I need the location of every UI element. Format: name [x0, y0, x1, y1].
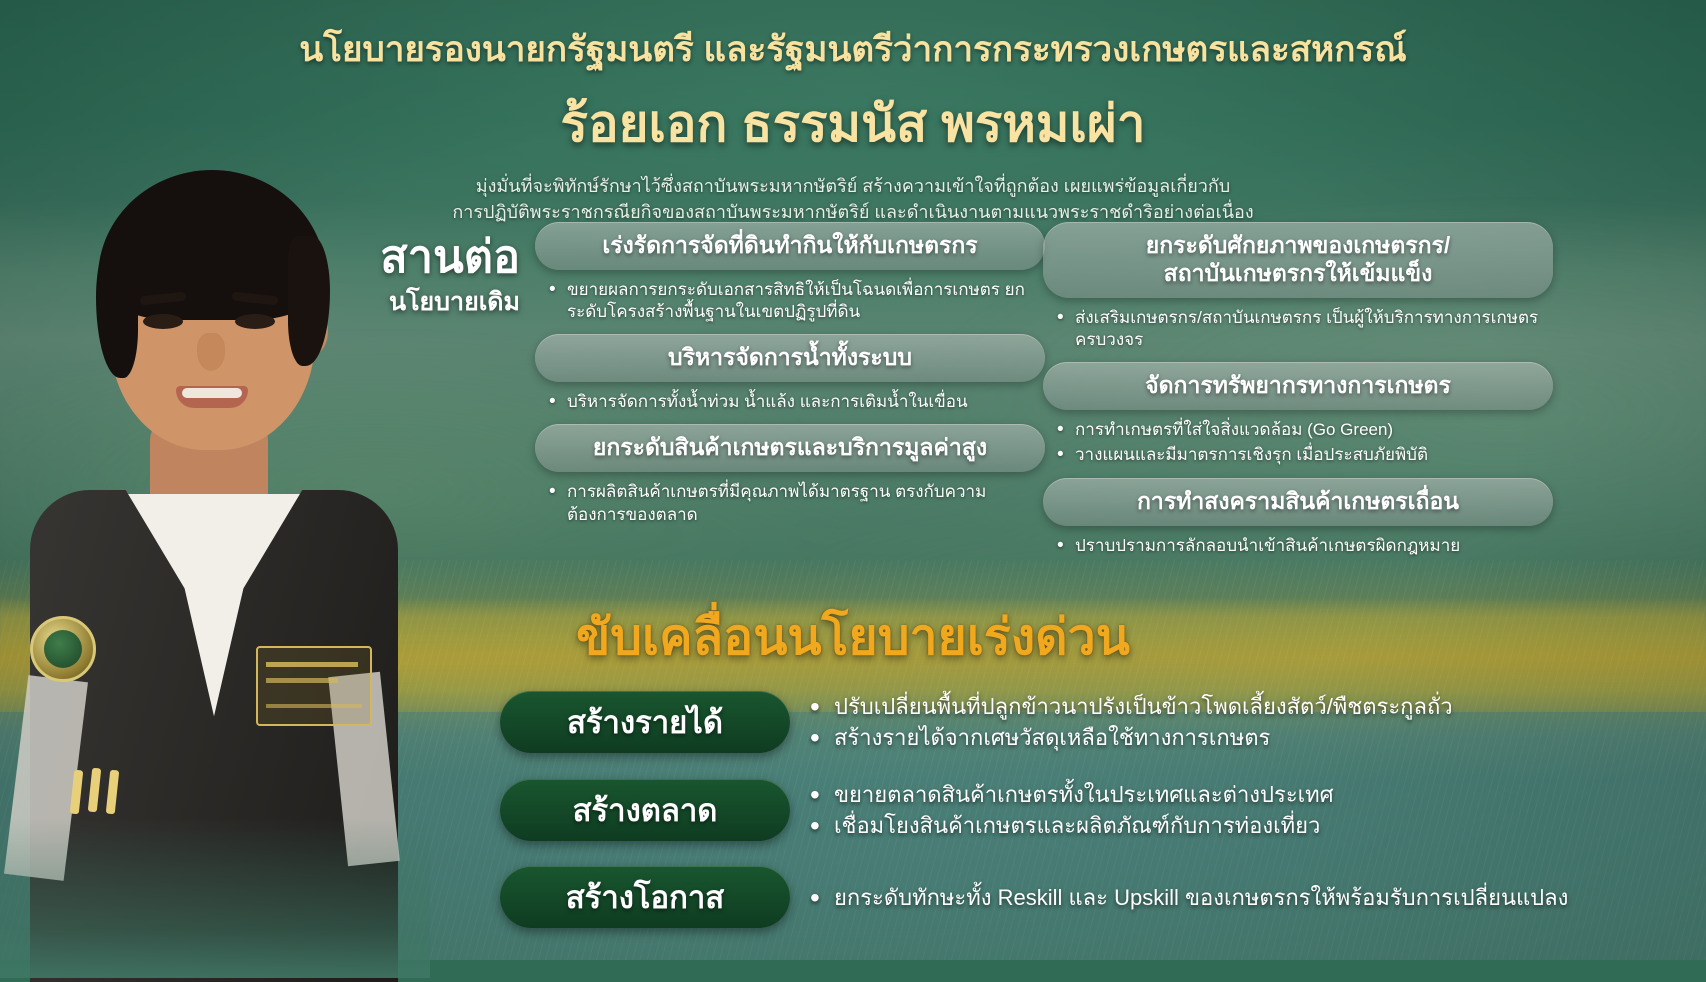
policy-bullet: ปราบปรามการลักลอบนำเข้าสินค้าเกษตรผิดกฎห… — [1057, 535, 1547, 557]
policy-card-title: จัดการทรัพยากรทางการเกษตร — [1043, 362, 1553, 410]
policy-card-title: ยกระดับสินค้าเกษตรและบริการมูลค่าสูง — [535, 424, 1045, 472]
policy-card-title: การทำสงครามสินค้าเกษตรเถื่อน — [1043, 478, 1553, 526]
vest-badge-text-line-2 — [266, 678, 338, 683]
policy-bullet: บริหารจัดการทั้งน้ำท่วม น้ำแล้ง และการเต… — [549, 391, 1039, 413]
policy-card-title: ยกระดับศักยภาพของเกษตรกร/ สถาบันเกษตรกรใ… — [1043, 222, 1553, 298]
policy-card-title-line-2: สถาบันเกษตรกรให้เข้มแข็ง — [1164, 260, 1433, 286]
portrait-nose — [197, 333, 225, 371]
portrait-hair-left — [96, 238, 138, 378]
policy-card-bullet-list: การผลิตสินค้าเกษตรที่มีคุณภาพได้มาตรฐาน … — [535, 472, 1045, 534]
policy-card-bullet-list: ปราบปรามการลักลอบนำเข้าสินค้าเกษตรผิดกฎห… — [1043, 526, 1553, 566]
continuing-policies-left-column: เร่งรัดการจัดที่ดินทำกินให้กับเกษตรกร ขย… — [535, 222, 1045, 537]
policy-card-bullet-list: การทำเกษตรที่ใส่ใจสิ่งแวดล้อม (Go Green)… — [1043, 410, 1553, 475]
policy-card-resource-management[interactable]: จัดการทรัพยากรทางการเกษตร การทำเกษตรที่ใ… — [1043, 362, 1553, 475]
continuing-policies-right-column: ยกระดับศักยภาพของเกษตรกร/ สถาบันเกษตรกรใ… — [1043, 222, 1553, 568]
portrait-eye-right — [235, 314, 275, 329]
urgent-badge-label: สร้างรายได้ — [500, 691, 790, 753]
urgent-point: เชื่อมโยงสินค้าเกษตรและผลิตภัณฑ์กับการท่… — [810, 811, 1334, 840]
policy-card-bullet-list: ส่งเสริมเกษตรกร/สถาบันเกษตรกร เป็นผู้ให้… — [1043, 298, 1553, 360]
policy-card-land-allocation[interactable]: เร่งรัดการจัดที่ดินทำกินให้กับเกษตรกร ขย… — [535, 222, 1045, 332]
continuing-label-secondary: นโยบายเดิม — [320, 282, 520, 322]
policy-bullet: ส่งเสริมเกษตรกร/สถาบันเกษตรกร เป็นผู้ให้… — [1057, 307, 1547, 351]
urgent-point: ขยายตลาดสินค้าเกษตรทั้งในประเทศและต่างปร… — [810, 780, 1334, 809]
policy-card-bullet-list: ขยายผลการยกระดับเอกสารสิทธิให้เป็นโฉนดเพ… — [535, 270, 1045, 332]
continuing-label-primary: สานต่อ — [320, 234, 520, 280]
urgent-row-create-income[interactable]: สร้างรายได้ ปรับเปลี่ยนพื้นที่ปลูกข้าวนา… — [500, 690, 1620, 754]
policy-bullet: ขยายผลการยกระดับเอกสารสิทธิให้เป็นโฉนดเพ… — [549, 279, 1039, 323]
policy-bullet: การผลิตสินค้าเกษตรที่มีคุณภาพได้มาตรฐาน … — [549, 481, 1039, 525]
portrait-teeth — [182, 388, 242, 398]
policy-card-water-management[interactable]: บริหารจัดการน้ำทั้งระบบ บริหารจัดการทั้ง… — [535, 334, 1045, 422]
urgent-row-create-opportunity[interactable]: สร้างโอกาส ยกระดับทักษะทั้ง Reskill และ … — [500, 866, 1620, 928]
urgent-policies-list: สร้างรายได้ ปรับเปลี่ยนพื้นที่ปลูกข้าวนา… — [500, 690, 1620, 952]
continuing-policies-label: สานต่อ นโยบายเดิม — [320, 234, 520, 322]
policy-card-farmer-capacity[interactable]: ยกระดับศักยภาพของเกษตรกร/ สถาบันเกษตรกรใ… — [1043, 222, 1553, 360]
portrait-bottom-fade — [0, 818, 430, 978]
portrait-eye-left — [143, 314, 183, 329]
continuing-policies-section: สานต่อ นโยบายเดิม เร่งรัดการจัดที่ดินทำก… — [320, 222, 1690, 522]
urgent-policies-title: ขับเคลื่อนนโยบายเร่งด่วน — [0, 598, 1706, 677]
urgent-point-list: ขยายตลาดสินค้าเกษตรทั้งในประเทศและต่างปร… — [790, 778, 1334, 842]
urgent-point-list: ยกระดับทักษะทั้ง Reskill และ Upskill ของ… — [790, 881, 1568, 914]
policy-bullet: การทำเกษตรที่ใส่ใจสิ่งแวดล้อม (Go Green) — [1057, 419, 1547, 441]
policy-card-title-line-1: ยกระดับศักยภาพของเกษตรกร/ — [1146, 232, 1451, 258]
urgent-point: ปรับเปลี่ยนพื้นที่ปลูกข้าวนาปรังเป็นข้าว… — [810, 692, 1453, 721]
urgent-point: ยกระดับทักษะทั้ง Reskill และ Upskill ของ… — [810, 883, 1568, 912]
policy-card-high-value-products[interactable]: ยกระดับสินค้าเกษตรและบริการมูลค่าสูง การ… — [535, 424, 1045, 534]
page-title-line-1: นโยบายรองนายกรัฐมนตรี และรัฐมนตรีว่าการก… — [0, 22, 1706, 77]
policy-card-bullet-list: บริหารจัดการทั้งน้ำท่วม น้ำแล้ง และการเต… — [535, 382, 1045, 422]
policy-card-title: เร่งรัดการจัดที่ดินทำกินให้กับเกษตรกร — [535, 222, 1045, 270]
vest-badge-text-line-3 — [266, 704, 362, 708]
policy-bullet: วางแผนและมีมาตรการเชิงรุก เมื่อประสบภัยพ… — [1057, 444, 1547, 466]
policy-card-illegal-goods-war[interactable]: การทำสงครามสินค้าเกษตรเถื่อน ปราบปรามการ… — [1043, 478, 1553, 566]
urgent-point: สร้างรายได้จากเศษวัสดุเหลือใช้ทางการเกษต… — [810, 723, 1453, 752]
urgent-badge-label: สร้างตลาด — [500, 779, 790, 841]
urgent-point-list: ปรับเปลี่ยนพื้นที่ปลูกข้าวนาปรังเป็นข้าว… — [790, 690, 1453, 754]
policy-card-title: บริหารจัดการน้ำทั้งระบบ — [535, 334, 1045, 382]
urgent-row-create-market[interactable]: สร้างตลาด ขยายตลาดสินค้าเกษตรทั้งในประเท… — [500, 778, 1620, 842]
urgent-badge-label: สร้างโอกาส — [500, 866, 790, 928]
